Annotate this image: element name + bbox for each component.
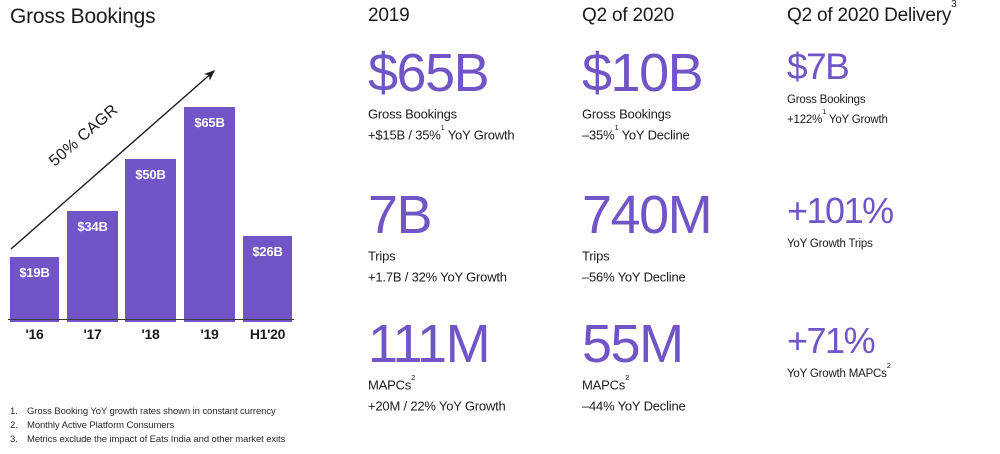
- metric-sub-superscript: 1: [822, 107, 826, 116]
- metric-label-text: Gross Bookings: [368, 106, 457, 121]
- x-tick-16: '16: [10, 326, 59, 342]
- metric-value: +101%: [787, 190, 1000, 232]
- metric-columns: 2019 $65B Gross Bookings +$15B / 35%1 Yo…: [360, 0, 1000, 420]
- metric-label: Trips: [368, 244, 588, 265]
- metric-trips: 740M Trips –56% YoY Decline: [582, 186, 792, 287]
- metric-sub: +20M / 22% YoY Growth: [368, 394, 588, 415]
- x-tick-18: '18: [125, 326, 176, 342]
- metric-sub: +1.7B / 32% YoY Growth: [368, 265, 588, 286]
- metric-sub-text: –44% YoY Decline: [582, 399, 686, 414]
- metric-label: Gross Bookings: [787, 88, 1000, 108]
- footnote-number: 3.: [10, 433, 27, 447]
- column-heading-text: 2019: [368, 5, 409, 26]
- column-heading: Q2 of 2020 Delivery3: [787, 5, 957, 27]
- metric-sub-text: +$15B / 35%: [368, 128, 441, 143]
- bar-h1-20: $26B: [243, 236, 292, 322]
- metric-value: $7B: [787, 46, 1000, 88]
- metric-value: 111M: [368, 315, 588, 373]
- metric-label-text: Gross Bookings: [787, 94, 865, 106]
- metric-sub-text: +122%: [787, 114, 822, 126]
- metric-value: 7B: [368, 186, 588, 244]
- metric-sub-text: –35%: [582, 128, 614, 143]
- column-heading-text: Q2 of 2020: [582, 5, 674, 26]
- metric-value: 740M: [582, 186, 792, 244]
- bar-label-18: $50B: [125, 167, 176, 182]
- metric-sub: –56% YoY Decline: [582, 265, 792, 286]
- x-tick-h1-20: H1'20: [239, 326, 296, 342]
- footnote-text: Metrics exclude the impact of Eats India…: [27, 433, 285, 447]
- metric-label-superscript: 2: [887, 361, 891, 370]
- metric-gross-bookings: $7B Gross Bookings +122%1 YoY Growth: [787, 46, 1000, 128]
- metric-value: +71%: [787, 320, 1000, 362]
- footnote-3: 3. Metrics exclude the impact of Eats In…: [10, 433, 430, 447]
- bar-label-17: $34B: [67, 219, 118, 234]
- metric-value: $10B: [582, 44, 792, 102]
- bar-label-16: $19B: [10, 265, 59, 280]
- metric-sub-text: +1.7B / 32% YoY Growth: [368, 270, 507, 285]
- column-heading-text: Q2 of 2020 Delivery: [787, 5, 951, 26]
- metric-column-q2-2020-delivery: Q2 of 2020 Delivery3 $7B Gross Bookings …: [787, 0, 1000, 420]
- metric-sub-superscript: 1: [614, 123, 618, 132]
- metric-sub: –35%1 YoY Decline: [582, 123, 792, 144]
- metric-label-text: YoY Growth MAPCs: [787, 368, 887, 380]
- metric-label: MAPCs2: [368, 373, 588, 394]
- chart-title: Gross Bookings: [10, 5, 155, 29]
- metric-sub-tail: YoY Growth: [445, 128, 515, 143]
- metric-label-text: Gross Bookings: [582, 106, 671, 121]
- metric-label: Trips: [582, 244, 792, 265]
- footnote-number: 1.: [10, 405, 27, 419]
- bar-label-19: $65B: [184, 115, 235, 130]
- metric-label-text: MAPCs: [582, 377, 625, 392]
- metric-label: YoY Growth MAPCs2: [787, 362, 1000, 382]
- x-tick-19: '19: [184, 326, 235, 342]
- metric-mapcs: 111M MAPCs2 +20M / 22% YoY Growth: [368, 315, 588, 416]
- metric-value: $65B: [368, 44, 588, 102]
- metric-sub: +122%1 YoY Growth: [787, 108, 1000, 128]
- metric-sub-text: +20M / 22% YoY Growth: [368, 399, 506, 414]
- metric-value: 55M: [582, 315, 792, 373]
- metric-label: YoY Growth Trips: [787, 232, 1000, 252]
- metric-sub-tail: YoY Decline: [618, 128, 689, 143]
- metric-trips: 7B Trips +1.7B / 32% YoY Growth: [368, 186, 588, 287]
- x-tick-17: '17: [67, 326, 118, 342]
- bar-17: $34B: [67, 211, 118, 322]
- metric-label-text: YoY Growth Trips: [787, 238, 873, 250]
- metric-sub-superscript: 1: [441, 123, 445, 132]
- metric-label: Gross Bookings: [368, 102, 588, 123]
- footnote-number: 2.: [10, 419, 27, 433]
- metric-column-2019: 2019 $65B Gross Bookings +$15B / 35%1 Yo…: [368, 0, 588, 420]
- metric-column-q2-2020: Q2 of 2020 $10B Gross Bookings –35%1 YoY…: [582, 0, 792, 420]
- column-heading-superscript: 3: [951, 0, 956, 10]
- metric-label-superscript: 2: [411, 373, 415, 382]
- metric-mapcs: 55M MAPCs2 –44% YoY Decline: [582, 315, 792, 416]
- x-axis-line: [8, 319, 294, 320]
- metric-sub: +$15B / 35%1 YoY Growth: [368, 123, 588, 144]
- footnote-text: Monthly Active Platform Consumers: [27, 419, 174, 433]
- metric-sub-text: –56% YoY Decline: [582, 270, 686, 285]
- bar-16: $19B: [10, 257, 59, 322]
- bar-18: $50B: [125, 159, 176, 322]
- metric-gross-bookings: $10B Gross Bookings –35%1 YoY Decline: [582, 44, 792, 145]
- metric-label: MAPCs2: [582, 373, 792, 394]
- footnote-text: Gross Booking YoY growth rates shown in …: [27, 405, 276, 419]
- slide-gross-bookings: Gross Bookings $19B $34B $50B $65B $26B …: [0, 0, 1000, 454]
- metric-label-text: Trips: [368, 248, 395, 263]
- metric-sub: –44% YoY Decline: [582, 394, 792, 415]
- metric-label-superscript: 2: [625, 373, 629, 382]
- bar-chart-plot: $19B $34B $50B $65B $26B: [0, 40, 320, 322]
- metric-label-text: Trips: [582, 248, 609, 263]
- column-heading: Q2 of 2020: [582, 5, 674, 27]
- column-heading: 2019: [368, 5, 409, 27]
- metric-label: Gross Bookings: [582, 102, 792, 123]
- metric-sub-tail: YoY Growth: [826, 114, 888, 126]
- metric-gross-bookings: $65B Gross Bookings +$15B / 35%1 YoY Gro…: [368, 44, 588, 145]
- bar-label-h1-20: $26B: [243, 244, 292, 259]
- chart-panel: Gross Bookings $19B $34B $50B $65B $26B …: [0, 0, 350, 400]
- footnote-2: 2. Monthly Active Platform Consumers: [10, 419, 430, 433]
- bar-19: $65B: [184, 107, 235, 322]
- metric-mapcs-growth: +71% YoY Growth MAPCs2: [787, 320, 1000, 382]
- metric-label-text: MAPCs: [368, 377, 411, 392]
- metric-trips-growth: +101% YoY Growth Trips: [787, 190, 1000, 252]
